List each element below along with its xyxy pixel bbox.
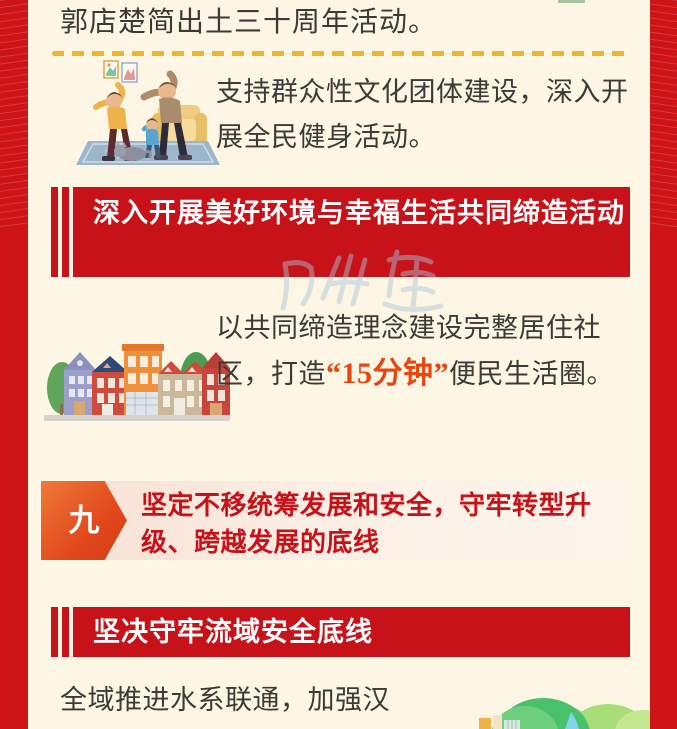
section-banner-environment: 深入开展美好环境与幸福生活共同缔造活动 bbox=[73, 187, 630, 277]
community-highlight-15min: “15分钟” bbox=[326, 357, 449, 390]
community-text-after: 便民生活圈。 bbox=[449, 359, 614, 389]
chapter-nine-title: 坚定不移统筹发展和安全，守牢转型升级、跨越发展的底线 bbox=[141, 487, 631, 561]
community-paragraph: 以共同缔造理念建设完整居住社区，打造“15分钟”便民生活圈。 bbox=[216, 306, 641, 397]
banner-accent-bar-inner-2 bbox=[62, 607, 69, 657]
exercise-paragraph: 支持群众性文化团体建设，深入开展全民健身活动。 bbox=[216, 70, 636, 160]
banner-accent-bar-inner-1 bbox=[62, 187, 69, 277]
section-banner-watershed: 坚决守牢流域安全底线 bbox=[73, 607, 630, 657]
banner-accent-bar-outer-2 bbox=[51, 607, 58, 657]
family-exercise-illustration: ✕✕ ✕✕ ✕✕✕ bbox=[66, 57, 230, 169]
house-orange bbox=[122, 344, 164, 415]
banner-accent-bar-outer-1 bbox=[51, 187, 58, 277]
green-mountains-illustration bbox=[453, 668, 650, 729]
right-border-rays bbox=[650, 0, 677, 230]
brick-wall-stairs-illustration bbox=[466, 0, 650, 8]
bottom-paragraph: 全域推进水系联通，加强汉 bbox=[60, 678, 480, 723]
dashed-divider bbox=[52, 51, 630, 56]
top-paragraph: 郭店楚简出土三十周年活动。 bbox=[60, 2, 437, 42]
townhouses-illustration bbox=[36, 330, 236, 430]
infographic-page: 郭店楚简出土三十周年活动。 bbox=[0, 0, 677, 729]
left-border-rays bbox=[0, 0, 28, 230]
right-red-border bbox=[650, 0, 677, 729]
left-red-border bbox=[0, 0, 28, 729]
content-canvas: 郭店楚简出土三十周年活动。 bbox=[28, 0, 650, 729]
